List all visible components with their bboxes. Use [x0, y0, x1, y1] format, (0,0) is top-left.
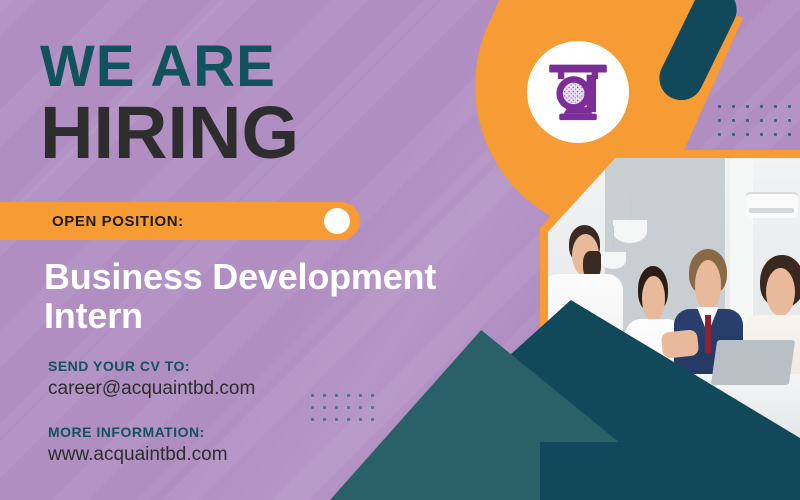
website-url[interactable]: www.acquaintbd.com [48, 444, 255, 466]
open-position-knob-icon [324, 208, 350, 234]
air-conditioner-icon [746, 192, 798, 218]
headline-we-are: WE ARE [40, 40, 299, 95]
dot-grid-top-right [718, 105, 800, 136]
more-info-label: MORE INFORMATION: [48, 424, 255, 440]
headline-hiring: HIRING [40, 97, 299, 168]
contact-block: SEND YOUR CV TO: career@acquaintbd.com M… [48, 358, 255, 466]
dot-grid-middle [311, 394, 374, 421]
hiring-poster: WE ARE HIRING OPEN POSITION: Business De… [0, 0, 800, 500]
teal-bottom-bar [540, 442, 800, 500]
cv-label: SEND YOUR CV TO: [48, 358, 255, 374]
open-position-bar: OPEN POSITION: [0, 202, 360, 240]
acquaint-a-logo-icon [542, 56, 614, 128]
company-logo-badge [527, 41, 629, 143]
cv-email[interactable]: career@acquaintbd.com [48, 378, 255, 400]
position-title: Business Development Intern [44, 258, 514, 336]
open-position-label: OPEN POSITION: [52, 213, 184, 230]
headline-block: WE ARE HIRING [40, 40, 299, 168]
